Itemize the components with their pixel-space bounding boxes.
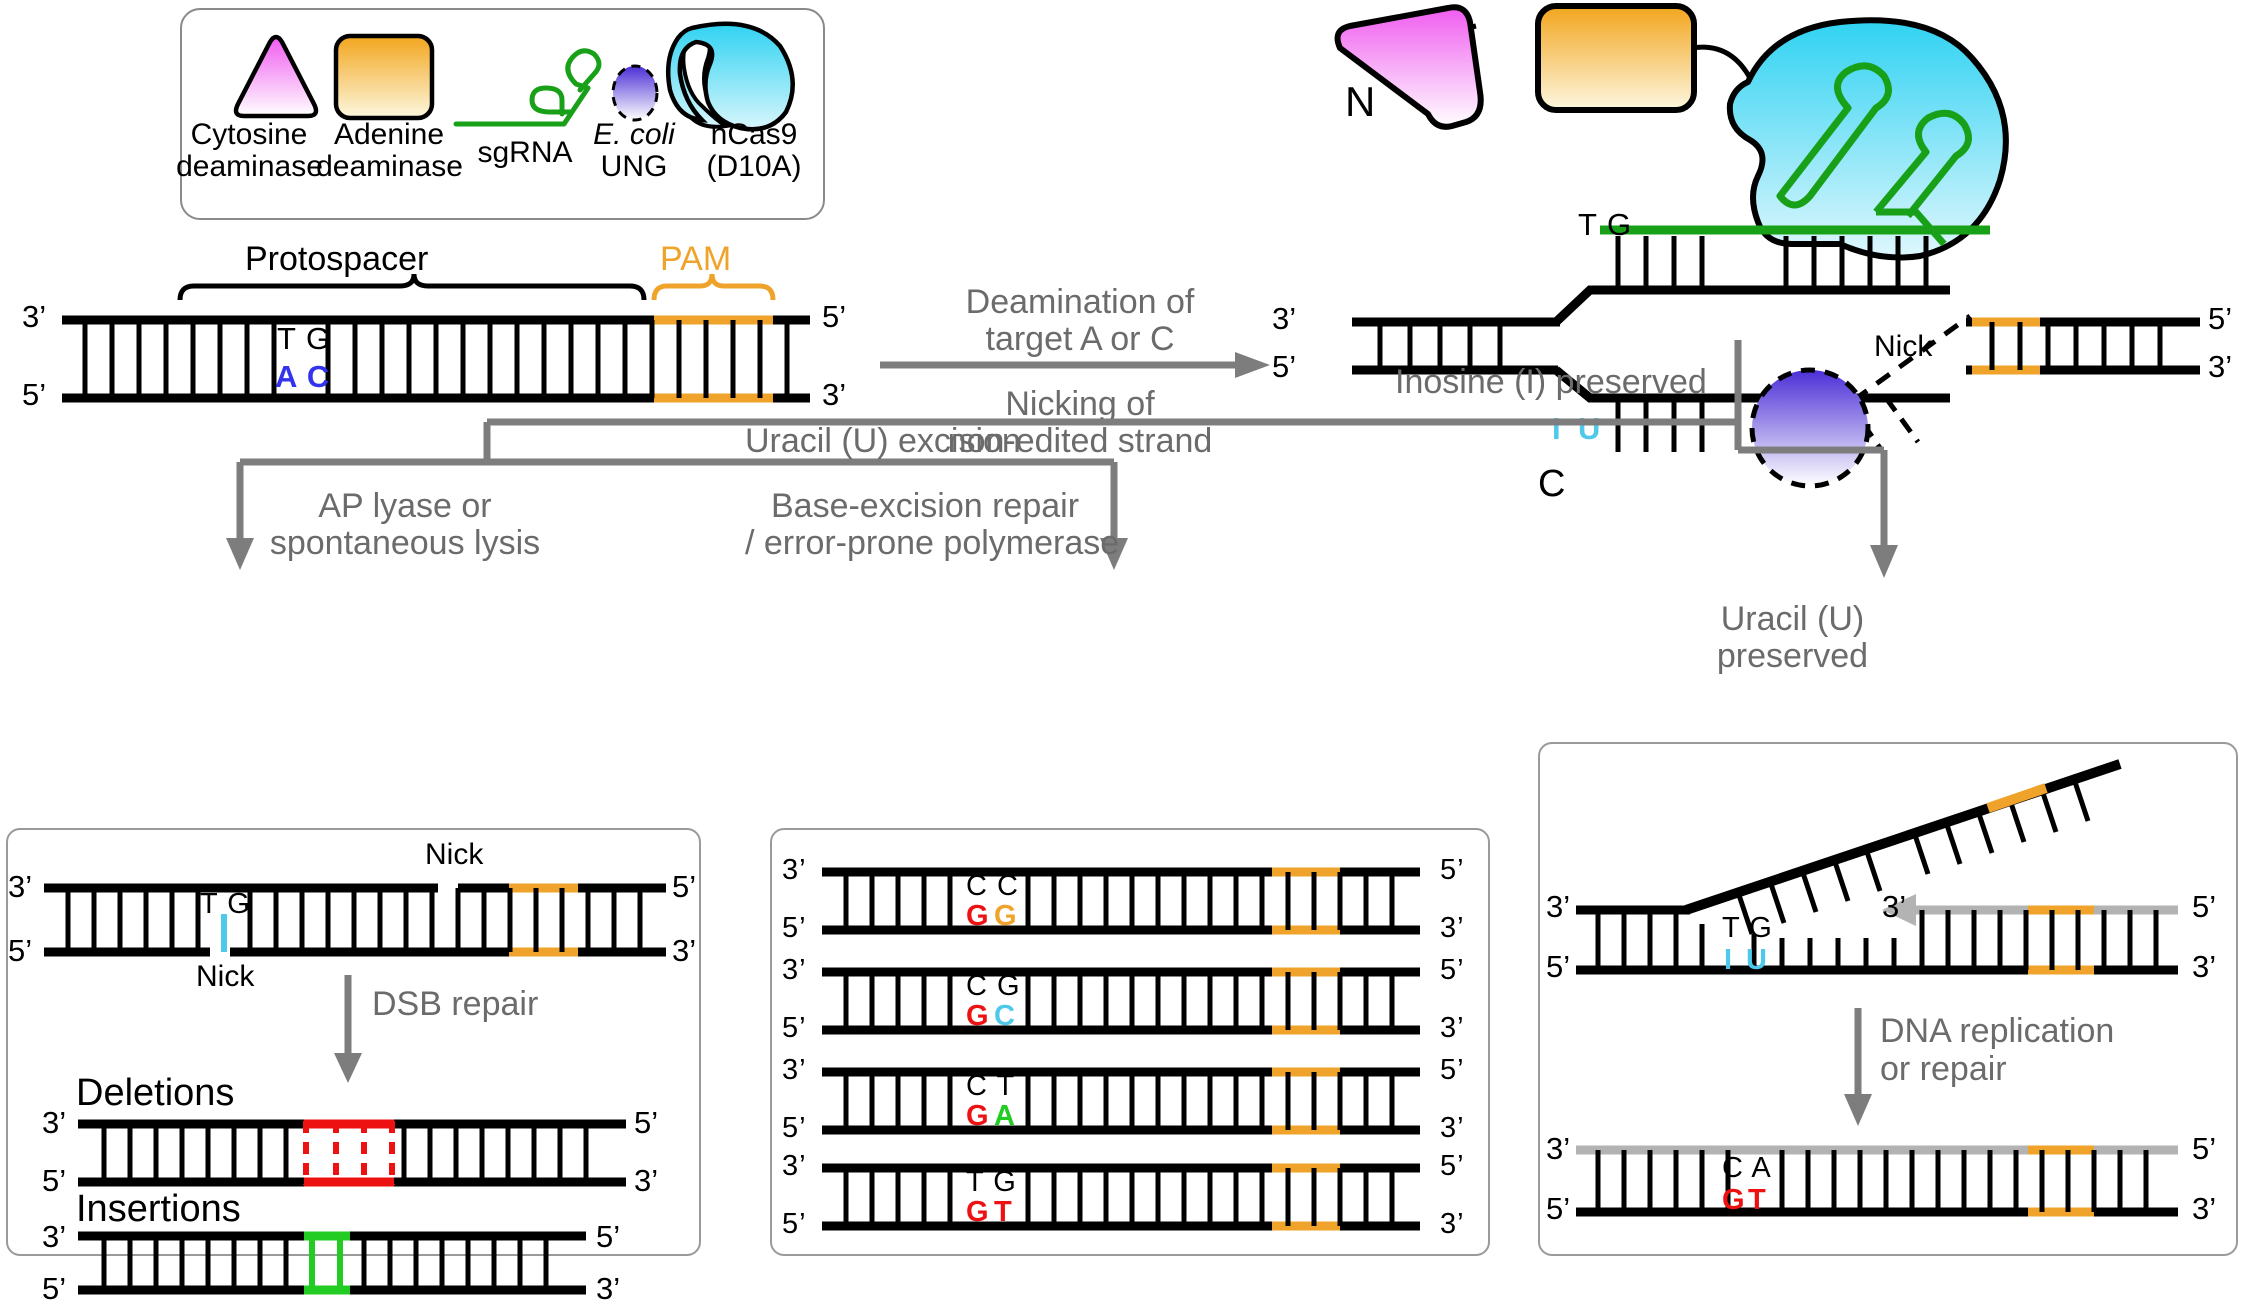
ber-prime-right-bottom: 3’ <box>1440 1012 1465 1044</box>
panel-right-final-right-top: 5’ <box>2192 1132 2216 1167</box>
ber-top-bases: C C <box>966 870 1019 902</box>
sphere-icon <box>613 66 657 120</box>
protospacer-label: Protospacer <box>245 240 428 278</box>
panel-right-base-i: I <box>1724 944 1733 976</box>
panel-right-displaced-duplex <box>1538 742 2238 962</box>
ber-prime-right-top: 5’ <box>1440 854 1465 886</box>
ber-bottom-base-2: A <box>994 1100 1016 1132</box>
legend-label-adenine-1: Adenine <box>330 118 448 152</box>
ber-bottom-base-1: G <box>966 1196 990 1228</box>
legend-icons <box>180 8 825 220</box>
ber-prime-left-top: 3’ <box>782 1150 807 1182</box>
ber-bottom-base-2: C <box>994 1000 1016 1032</box>
ber-l2: / error-prone polymerase <box>745 524 1105 562</box>
panel-right-right-prime-top: 5’ <box>2192 890 2216 925</box>
legend-label-ung: UNG <box>575 150 693 184</box>
ber-bottom-base-2: G <box>994 900 1018 932</box>
uracil-preserved-l2: preserved <box>1710 637 1875 675</box>
step2-top-bases: T G <box>1578 208 1632 243</box>
panel-left-top-bases: T G <box>200 888 251 920</box>
panel-left-d1-left-bottom: 5’ <box>8 934 32 969</box>
panel-left-deletions-duplex <box>6 1118 701 1188</box>
ber-bottom-base-1: G <box>966 1000 990 1032</box>
panel-right-final-right-bottom: 3’ <box>2192 1192 2216 1227</box>
legend-label-cytosine-1: Cytosine <box>190 118 308 152</box>
ber-prime-left-bottom: 5’ <box>782 912 807 944</box>
ber-top-bases: C T <box>966 1070 1015 1102</box>
panel-right-final-base-2: T <box>1748 1184 1767 1216</box>
ber-outcome-duplex <box>770 1066 1490 1136</box>
panel-right-final-duplex <box>1538 1140 2238 1220</box>
ber-prime-right-top: 5’ <box>1440 1054 1465 1086</box>
panel-left-d1-right-top: 5’ <box>672 870 696 905</box>
legend-label-adenine-2: deaminase <box>312 150 467 184</box>
ber-outcome-duplex <box>770 1162 1490 1232</box>
arrow1-line1: Deamination of <box>930 283 1230 321</box>
panel-right-final-base-1: G <box>1722 1184 1746 1216</box>
ncas9-icon <box>1730 20 2006 257</box>
ber-outcome-duplex <box>770 866 1490 936</box>
panel-left-nick-top: Nick <box>425 838 483 872</box>
legend-label-d10a: (D10A) <box>690 150 818 184</box>
ber-prime-right-top: 5’ <box>1440 1150 1465 1182</box>
ber-top-bases: C G <box>966 970 1021 1002</box>
legend-label-ncas9: nCas9 <box>690 118 818 152</box>
panel-right-final-left-bottom: 5’ <box>1546 1192 1570 1227</box>
panel-left-d2-left-top: 3’ <box>42 1106 66 1141</box>
ber-l1: Base-excision repair <box>755 487 1095 525</box>
ber-prime-left-top: 3’ <box>782 854 807 886</box>
legend-label-cytosine-2: deaminase <box>172 150 327 184</box>
panel-left-nick-bottom: Nick <box>196 960 254 994</box>
panel-right-left-prime-top: 3’ <box>1546 890 1570 925</box>
ber-prime-right-bottom: 3’ <box>1440 912 1465 944</box>
ber-top-bases: T G <box>966 1166 1017 1198</box>
ber-outcome-duplex <box>770 966 1490 1036</box>
linker-2 <box>1692 47 1750 78</box>
panel-right-top-bases: T G <box>1722 912 1773 944</box>
panel-left-d2-left-bottom: 5’ <box>42 1164 66 1199</box>
insertions-label: Insertions <box>76 1188 241 1231</box>
ber-bottom-base-1: G <box>966 1100 990 1132</box>
panel-right-mid-prime: 3’ <box>1882 890 1906 925</box>
panel-left-d3-right-bottom: 3’ <box>596 1272 620 1307</box>
legend-label-sgrna: sgRNA <box>460 136 590 170</box>
pam-label: PAM <box>660 240 731 278</box>
panel-left-d2-right-bottom: 3’ <box>634 1164 658 1199</box>
uracil-preserved-l1: Uracil (U) <box>1710 600 1875 638</box>
panel-right-left-prime-bottom: 5’ <box>1546 950 1570 985</box>
panel-right-final-left-top: 3’ <box>1546 1132 1570 1167</box>
ap-lyase-l2: spontaneous lysis <box>265 524 545 562</box>
deletions-label: Deletions <box>76 1072 234 1115</box>
triangle-icon <box>236 37 316 116</box>
panel-left-nicked-duplex <box>6 880 701 960</box>
panel-left-d3-left-bottom: 5’ <box>42 1272 66 1307</box>
panel-right-right-prime-bottom: 3’ <box>2192 950 2216 985</box>
uracil-excision-label: Uracil (U) excision <box>745 422 1021 460</box>
panel-right-base-u: U <box>1746 944 1768 976</box>
replication-l2: or repair <box>1880 1050 2007 1088</box>
ber-prime-left-bottom: 5’ <box>782 1112 807 1144</box>
ber-prime-left-top: 3’ <box>782 1054 807 1086</box>
n-terminus-label: N <box>1345 78 1375 125</box>
rounded-rect-icon <box>336 36 432 118</box>
inosine-preserved-label: Inosine (I) preserved <box>1395 363 1707 401</box>
dsb-repair-label: DSB repair <box>372 985 538 1023</box>
ber-prime-left-bottom: 5’ <box>782 1208 807 1240</box>
legend-label-ecoli: E. coli <box>575 118 693 152</box>
ber-prime-right-bottom: 3’ <box>1440 1112 1465 1144</box>
panel-left-d1-left-top: 3’ <box>8 870 32 905</box>
ap-lyase-l1: AP lyase or <box>275 487 535 525</box>
ber-prime-right-top: 5’ <box>1440 954 1465 986</box>
sgrna-icon <box>456 51 599 124</box>
panel-left-d1-right-bottom: 3’ <box>672 934 696 969</box>
replication-l1: DNA replication <box>1880 1012 2114 1050</box>
ber-prime-left-top: 3’ <box>782 954 807 986</box>
panel-right-final-top-bases: C A <box>1722 1152 1772 1184</box>
panel-left-d3-right-top: 5’ <box>596 1220 620 1255</box>
adenine-deaminase-icon <box>1538 6 1694 110</box>
ber-bottom-base-2: T <box>994 1196 1013 1228</box>
panel-left-d3-left-top: 3’ <box>42 1220 66 1255</box>
ber-prime-right-bottom: 3’ <box>1440 1208 1465 1240</box>
panel-left-d2-right-top: 5’ <box>634 1106 658 1141</box>
ber-bottom-base-1: G <box>966 900 990 932</box>
ber-prime-left-bottom: 5’ <box>782 1012 807 1044</box>
